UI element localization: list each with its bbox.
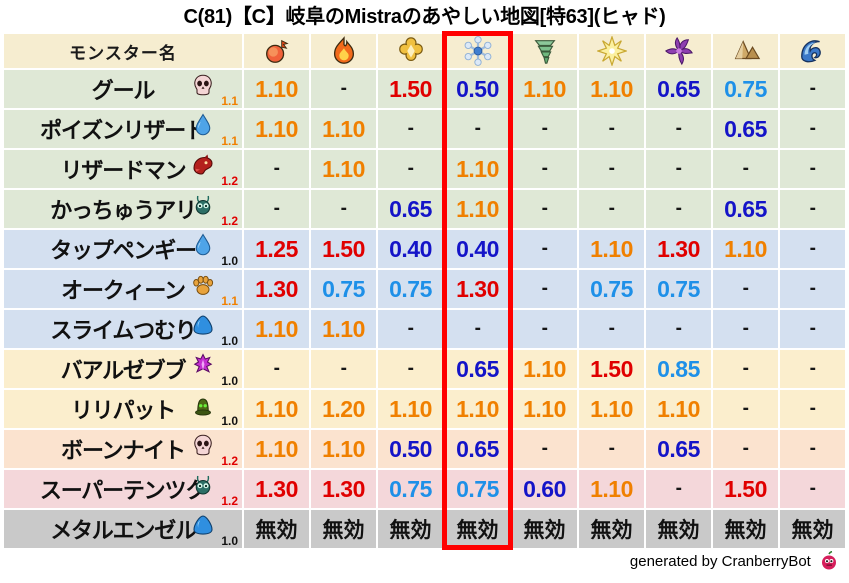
element-header-hyado[interactable] xyxy=(445,34,510,68)
resist-cell: - xyxy=(378,350,443,388)
bug-icon xyxy=(190,193,216,219)
element-header-ion[interactable] xyxy=(378,34,443,68)
table-row: ポイズンリザード1.11.101.10-----0.65- xyxy=(4,110,845,148)
resist-cell: 0.75 xyxy=(579,270,644,308)
monster-name-cell[interactable]: ポイズンリザード1.1 xyxy=(4,110,242,148)
resist-cell: 1.10 xyxy=(579,70,644,108)
monster-name-label: ボーンナイト xyxy=(61,433,185,465)
monster-name-cell[interactable]: バアルゼブブ1.0 xyxy=(4,350,242,388)
resist-cell: - xyxy=(512,270,577,308)
monster-level-label: 1.0 xyxy=(221,255,238,267)
resist-cell: - xyxy=(378,110,443,148)
element-header-gira[interactable] xyxy=(311,34,376,68)
table-row: タップペンギー1.01.251.500.400.40-1.101.301.10- xyxy=(4,230,845,268)
resist-cell: 1.10 xyxy=(646,390,711,428)
resist-cell: 無効 xyxy=(579,510,644,548)
element-header-dorma[interactable] xyxy=(646,34,711,68)
resist-cell: 1.10 xyxy=(445,190,510,228)
monster-name-label: タップペンギー xyxy=(50,233,196,265)
resist-cell: 1.10 xyxy=(378,390,443,428)
resist-cell: - xyxy=(780,430,845,468)
table-row: かっちゅうアリ1.2--0.651.10---0.65- xyxy=(4,190,845,228)
resist-cell: 無効 xyxy=(646,510,711,548)
resist-cell: 1.50 xyxy=(311,230,376,268)
resist-cell: 1.10 xyxy=(512,70,577,108)
element-header-dein[interactable] xyxy=(579,34,644,68)
resist-cell: - xyxy=(512,110,577,148)
resist-cell: - xyxy=(445,310,510,348)
resist-cell: 0.65 xyxy=(378,190,443,228)
resist-cell: 0.65 xyxy=(646,430,711,468)
resist-cell: 0.65 xyxy=(713,190,778,228)
resist-cell: 0.75 xyxy=(713,70,778,108)
resist-cell: - xyxy=(311,350,376,388)
monster-name-label: オークィーン xyxy=(61,273,185,305)
resist-cell: 1.25 xyxy=(244,230,309,268)
resist-cell: - xyxy=(713,270,778,308)
resist-cell: - xyxy=(579,310,644,348)
resist-cell: - xyxy=(646,110,711,148)
bug-icon xyxy=(190,473,216,499)
monster-name-cell[interactable]: スライムつむり1.0 xyxy=(4,310,242,348)
resist-cell: - xyxy=(713,150,778,188)
monster-name-label: ポイズンリザード xyxy=(40,113,206,145)
footer: generated by CranberryBot xyxy=(630,551,839,578)
resist-cell: 無効 xyxy=(378,510,443,548)
skull-icon xyxy=(190,433,216,459)
monster-level-label: 1.1 xyxy=(221,95,238,107)
resist-cell: - xyxy=(780,390,845,428)
resist-cell: - xyxy=(780,310,845,348)
resistance-table: モンスター名グール1.11.10-1.500.501.101.100.650.7… xyxy=(2,32,847,550)
element-header-jiba[interactable] xyxy=(713,34,778,68)
resist-cell: - xyxy=(713,350,778,388)
table-row: ボーンナイト1.21.101.100.500.65--0.65-- xyxy=(4,430,845,468)
resist-cell: - xyxy=(512,190,577,228)
pawprint-icon xyxy=(190,273,216,299)
goblin-icon xyxy=(190,393,216,419)
resist-cell: - xyxy=(780,150,845,188)
resist-cell: - xyxy=(244,350,309,388)
resist-cell: 0.65 xyxy=(445,430,510,468)
resist-cell: 0.50 xyxy=(445,70,510,108)
monster-level-label: 1.2 xyxy=(221,455,238,467)
resist-cell: - xyxy=(713,390,778,428)
resist-cell: - xyxy=(780,70,845,108)
monster-level-label: 1.1 xyxy=(221,295,238,307)
element-header-zaki[interactable] xyxy=(780,34,845,68)
monster-level-label: 1.0 xyxy=(221,535,238,547)
resist-cell: 0.60 xyxy=(512,470,577,508)
demon-icon xyxy=(190,353,216,379)
resist-cell: 1.10 xyxy=(311,150,376,188)
resist-cell: - xyxy=(579,190,644,228)
resist-cell: - xyxy=(780,350,845,388)
resist-cell: - xyxy=(646,310,711,348)
monster-name-cell[interactable]: メタルエンゼル1.0 xyxy=(4,510,242,548)
resist-cell: 1.50 xyxy=(378,70,443,108)
resist-cell: - xyxy=(579,110,644,148)
resist-cell: 0.75 xyxy=(378,470,443,508)
resist-cell: - xyxy=(311,190,376,228)
resist-cell: 0.75 xyxy=(378,270,443,308)
footer-label: generated by CranberryBot xyxy=(630,553,811,570)
resist-cell: 1.30 xyxy=(311,470,376,508)
element-header-bagi[interactable] xyxy=(512,34,577,68)
resist-cell: - xyxy=(713,430,778,468)
resist-cell: 1.10 xyxy=(579,390,644,428)
resist-cell: 1.30 xyxy=(244,470,309,508)
resist-cell: 0.65 xyxy=(713,110,778,148)
resist-cell: 0.75 xyxy=(646,270,711,308)
resist-cell: 1.10 xyxy=(512,390,577,428)
resist-cell: 1.50 xyxy=(713,470,778,508)
resist-cell: - xyxy=(512,310,577,348)
skull-icon xyxy=(190,73,216,99)
resist-cell: 1.10 xyxy=(445,150,510,188)
resist-cell: 1.10 xyxy=(244,390,309,428)
resist-cell: 0.40 xyxy=(445,230,510,268)
slime-icon xyxy=(190,513,216,539)
table-header-row: モンスター名 xyxy=(4,34,845,68)
element-header-mera[interactable] xyxy=(244,34,309,68)
waterdrop-icon xyxy=(190,113,216,139)
resist-cell: - xyxy=(378,310,443,348)
resist-cell: 1.10 xyxy=(244,110,309,148)
resist-cell: 無効 xyxy=(244,510,309,548)
table-body: モンスター名グール1.11.10-1.500.501.101.100.650.7… xyxy=(4,34,845,548)
resist-cell: - xyxy=(512,430,577,468)
table-row: スーパーテンツク1.21.301.300.750.750.601.10-1.50… xyxy=(4,470,845,508)
monster-level-label: 1.1 xyxy=(221,135,238,147)
monster-name-cell[interactable]: リリパット1.0 xyxy=(4,390,242,428)
table-row: リザードマン1.2-1.10-1.10----- xyxy=(4,150,845,188)
dragonhead-icon xyxy=(190,153,216,179)
page-title: C(81)【C】岐阜のMistraのあやしい地図[特63](ヒャド) xyxy=(0,0,849,32)
monster-name-label: グール xyxy=(92,73,154,105)
monster-name-cell[interactable]: かっちゅうアリ1.2 xyxy=(4,190,242,228)
slime-icon xyxy=(190,313,216,339)
table-row: スライムつむり1.01.101.10------- xyxy=(4,310,845,348)
resist-cell: - xyxy=(646,150,711,188)
resist-cell: 1.10 xyxy=(311,110,376,148)
resist-cell: - xyxy=(445,110,510,148)
tornado-icon xyxy=(530,36,560,66)
monster-name-header: モンスター名 xyxy=(4,34,242,68)
table-row: メタルエンゼル1.0無効無効無効無効無効無効無効無効無効 xyxy=(4,510,845,548)
resist-cell: - xyxy=(512,150,577,188)
resist-cell: - xyxy=(579,430,644,468)
monster-name-cell[interactable]: ボーンナイト1.2 xyxy=(4,430,242,468)
resist-cell: 1.20 xyxy=(311,390,376,428)
resist-table-wrap: モンスター名グール1.11.10-1.500.501.101.100.650.7… xyxy=(0,32,849,550)
resist-cell: 無効 xyxy=(780,510,845,548)
monster-name-label: バアルゼブブ xyxy=(61,353,186,385)
explosion-icon xyxy=(396,36,426,66)
resist-cell: - xyxy=(244,150,309,188)
table-row: バアルゼブブ1.0---0.651.101.500.85-- xyxy=(4,350,845,388)
resist-cell: - xyxy=(512,230,577,268)
cranberry-bot-icon xyxy=(819,551,839,578)
monster-name-label: リリパット xyxy=(71,393,175,425)
resist-cell: 1.30 xyxy=(244,270,309,308)
resist-cell: - xyxy=(378,150,443,188)
light-star-icon xyxy=(597,36,627,66)
fireball-icon xyxy=(262,36,292,66)
resist-cell: 無効 xyxy=(713,510,778,548)
resist-cell: 0.65 xyxy=(445,350,510,388)
waterdrop-icon xyxy=(190,233,216,259)
resist-cell: - xyxy=(780,190,845,228)
resist-cell: 1.50 xyxy=(579,350,644,388)
resist-cell: - xyxy=(780,270,845,308)
resist-cell: 1.10 xyxy=(445,390,510,428)
resist-cell: 無効 xyxy=(512,510,577,548)
table-row: リリパット1.01.101.201.101.101.101.101.10-- xyxy=(4,390,845,428)
flame-icon xyxy=(329,36,359,66)
snowflake-icon xyxy=(463,36,493,66)
mountain-icon xyxy=(731,36,761,66)
resist-cell: 1.10 xyxy=(512,350,577,388)
resist-cell: - xyxy=(579,150,644,188)
resist-cell: - xyxy=(780,230,845,268)
resist-cell: - xyxy=(780,110,845,148)
monster-name-label: リザードマン xyxy=(61,153,186,185)
monster-name-label: かっちゅうアリ xyxy=(50,193,196,225)
resist-cell: 1.10 xyxy=(244,310,309,348)
resist-cell: 0.65 xyxy=(646,70,711,108)
monster-level-label: 1.0 xyxy=(221,415,238,427)
resist-cell: 1.10 xyxy=(579,470,644,508)
resist-cell: 1.10 xyxy=(244,70,309,108)
resist-cell: 1.10 xyxy=(244,430,309,468)
resist-cell: 1.30 xyxy=(445,270,510,308)
monster-name-cell[interactable]: リザードマン1.2 xyxy=(4,150,242,188)
resist-cell: 0.85 xyxy=(646,350,711,388)
monster-name-cell[interactable]: スーパーテンツク1.2 xyxy=(4,470,242,508)
resist-cell: - xyxy=(311,70,376,108)
resist-cell: - xyxy=(780,470,845,508)
monster-level-label: 1.0 xyxy=(221,335,238,347)
monster-name-label: スライムつむり xyxy=(50,313,195,345)
resist-cell: 1.10 xyxy=(579,230,644,268)
resist-cell: 0.75 xyxy=(311,270,376,308)
resist-cell: 無効 xyxy=(445,510,510,548)
monster-name-label: メタルエンゼル xyxy=(50,513,196,545)
resist-cell: 1.10 xyxy=(311,310,376,348)
wave-icon xyxy=(798,36,828,66)
monster-name-cell[interactable]: グール1.1 xyxy=(4,70,242,108)
table-row: グール1.11.10-1.500.501.101.100.650.75- xyxy=(4,70,845,108)
dark-swirl-icon xyxy=(664,36,694,66)
monster-level-label: 1.2 xyxy=(221,175,238,187)
resist-cell: 1.10 xyxy=(311,430,376,468)
resist-cell: 1.30 xyxy=(646,230,711,268)
monster-level-label: 1.0 xyxy=(221,375,238,387)
resist-cell: 0.75 xyxy=(445,470,510,508)
resist-cell: - xyxy=(713,310,778,348)
resist-cell: 0.50 xyxy=(378,430,443,468)
resist-cell: - xyxy=(646,470,711,508)
resist-cell: 無効 xyxy=(311,510,376,548)
monster-level-label: 1.2 xyxy=(221,495,238,507)
monster-level-label: 1.2 xyxy=(221,215,238,227)
monster-name-label: スーパーテンツク xyxy=(40,473,206,505)
resist-cell: 0.40 xyxy=(378,230,443,268)
resist-cell: - xyxy=(244,190,309,228)
monster-name-cell[interactable]: オークィーン1.1 xyxy=(4,270,242,308)
table-row: オークィーン1.11.300.750.751.30-0.750.75-- xyxy=(4,270,845,308)
monster-name-cell[interactable]: タップペンギー1.0 xyxy=(4,230,242,268)
resist-cell: - xyxy=(646,190,711,228)
resist-cell: 1.10 xyxy=(713,230,778,268)
